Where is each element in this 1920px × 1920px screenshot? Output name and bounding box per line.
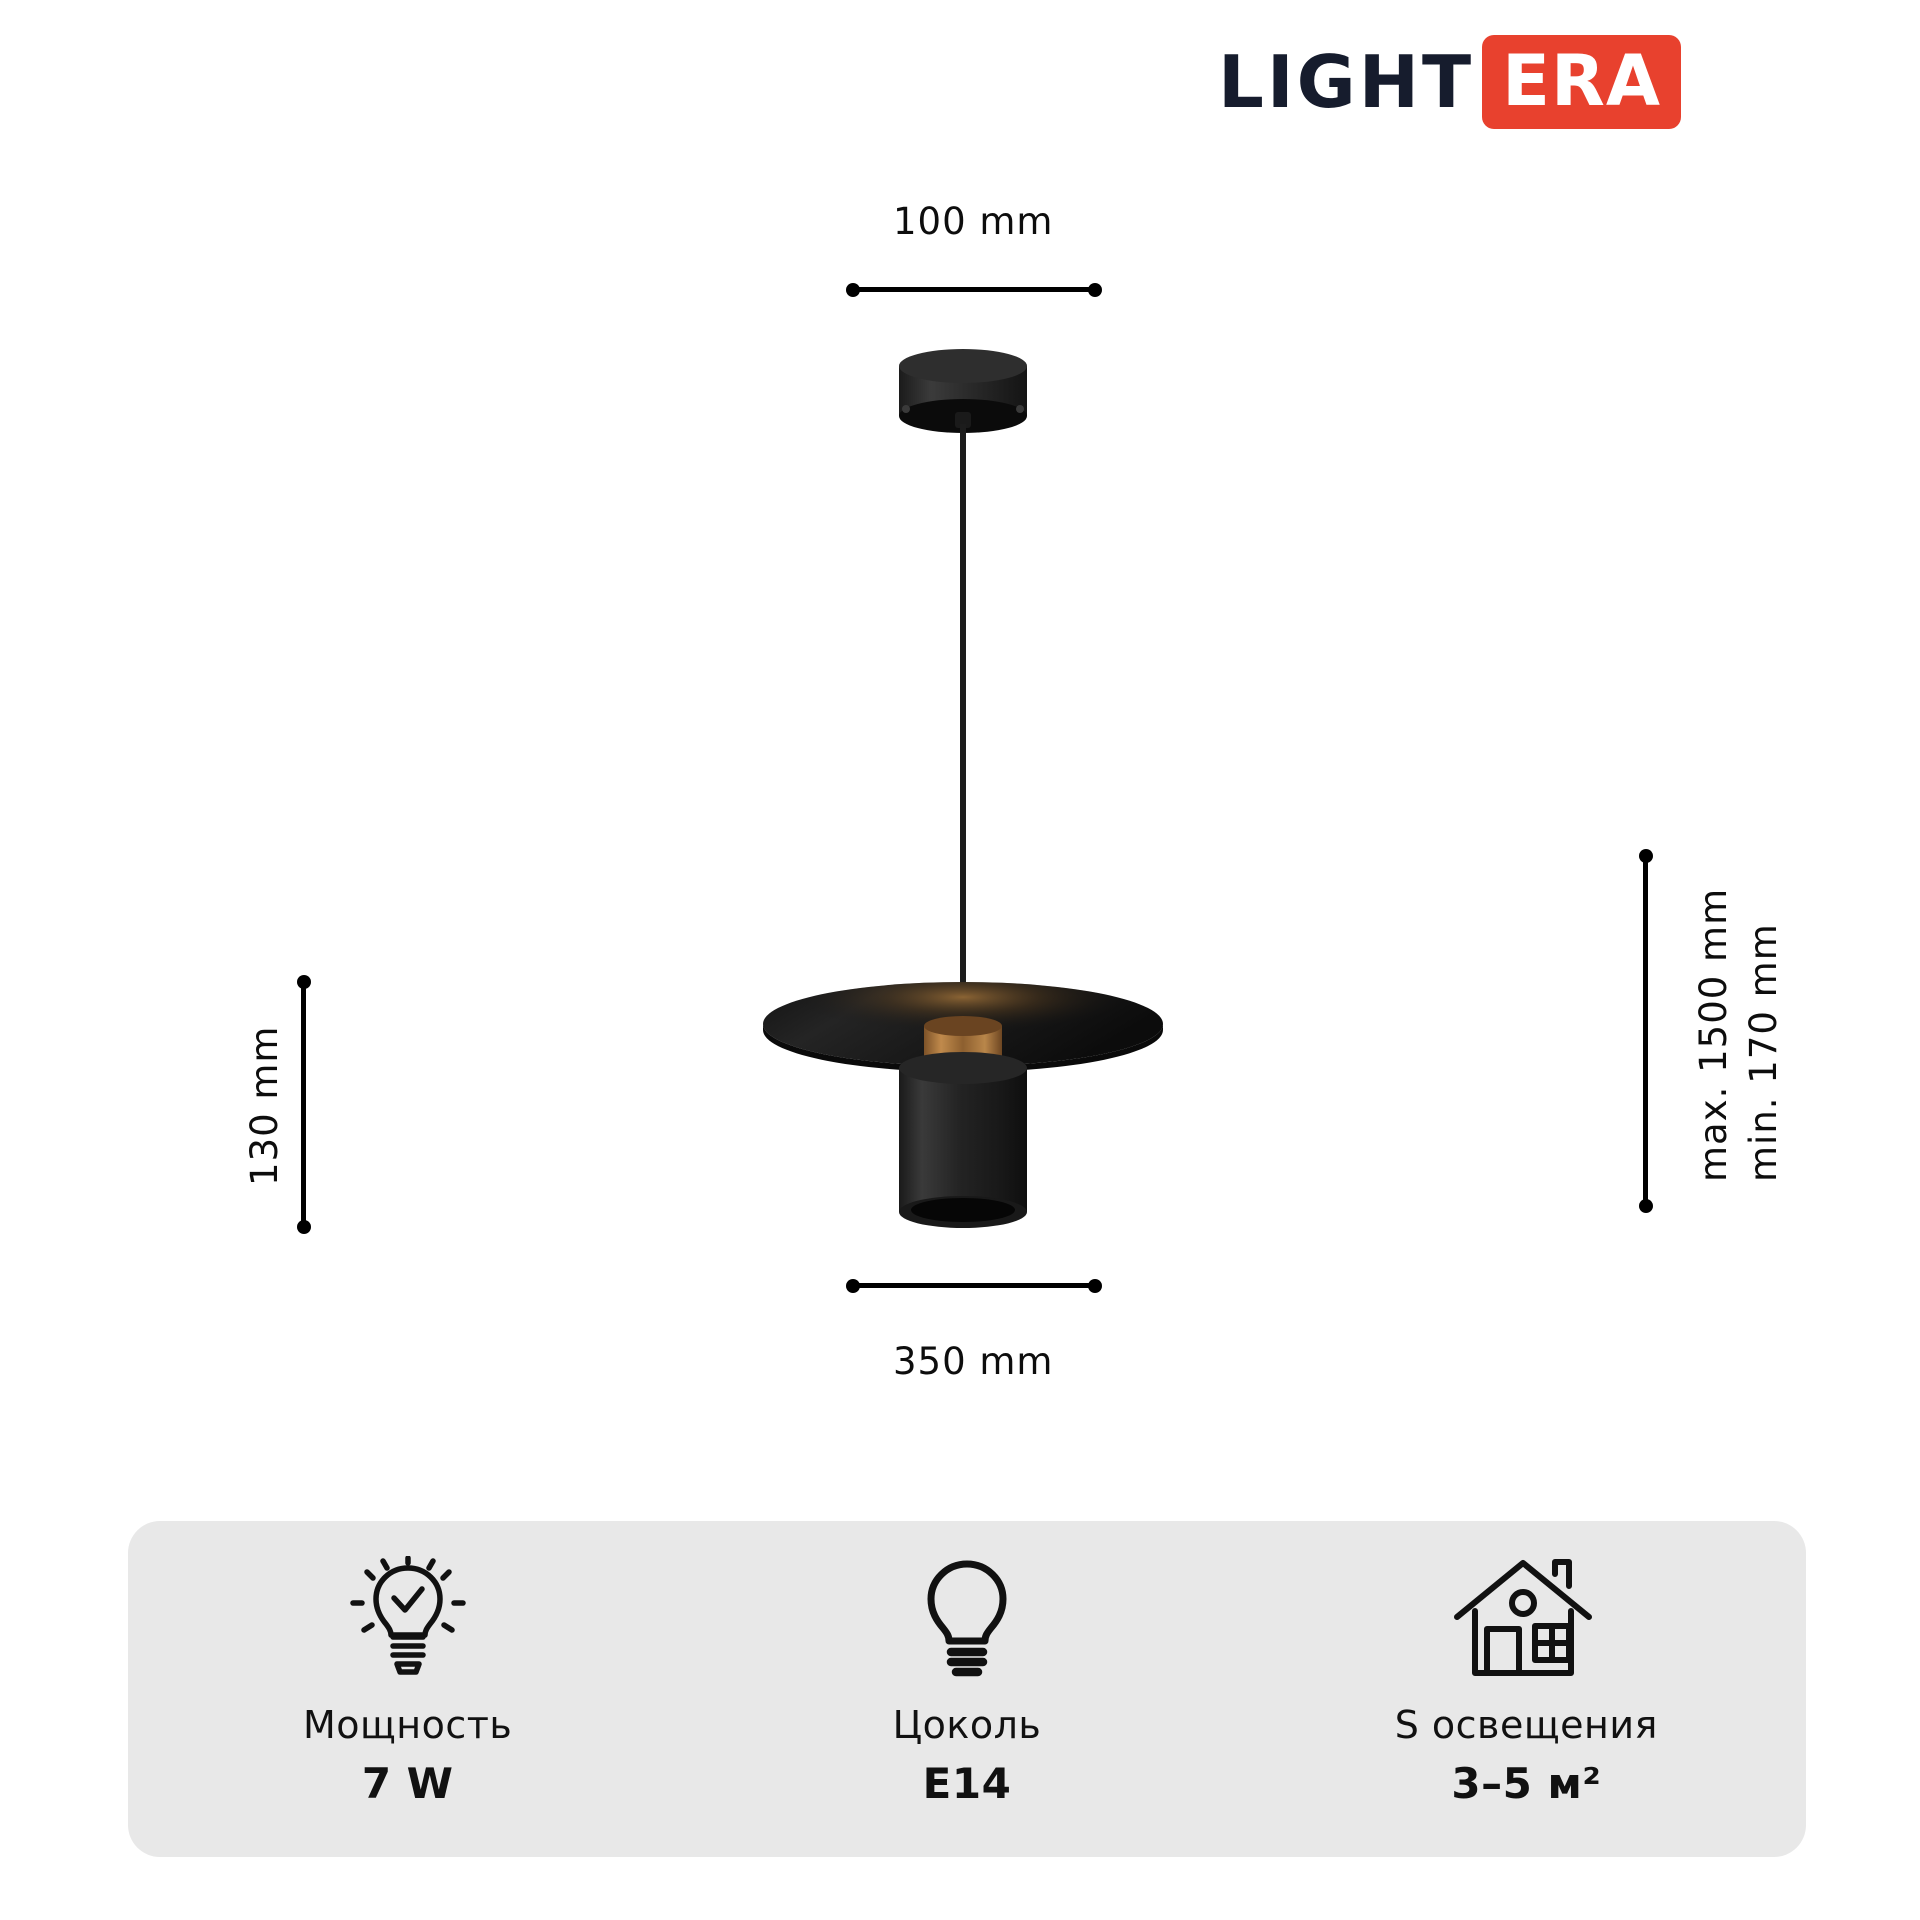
brand-logo: LIGHT ERA	[1218, 36, 1681, 128]
spec-item-socket: Цоколь E14	[687, 1521, 1246, 1857]
spec-value-socket: E14	[923, 1761, 1012, 1807]
house-icon	[1453, 1555, 1599, 1681]
spec-panel: Мощность 7 W Цоколь E14	[128, 1521, 1806, 1857]
dim-line-shade-width	[848, 1283, 1100, 1288]
copper-collar	[924, 1016, 1002, 1080]
brand-logo-era-text: ERA	[1502, 46, 1661, 116]
dim-label-shade-width: 350 mm	[893, 1340, 1053, 1383]
bulb-check-icon	[347, 1555, 469, 1681]
dim-label-suspension-max: max. 1500 mm	[1692, 888, 1735, 1182]
spec-value-lighting-area: 3–5 м²	[1451, 1761, 1601, 1807]
dim-line-shade-height	[301, 977, 306, 1232]
spec-title-power: Мощность	[303, 1705, 512, 1747]
spec-value-power: 7 W	[362, 1761, 454, 1807]
dim-label-canopy-width: 100 mm	[893, 200, 1053, 243]
brand-logo-light-text: LIGHT	[1218, 46, 1482, 118]
ceiling-canopy	[899, 349, 1027, 433]
dim-line-canopy-width	[848, 287, 1100, 292]
brand-logo-era-badge: ERA	[1482, 35, 1681, 129]
spec-item-power: Мощность 7 W	[128, 1521, 687, 1857]
cylinder-shade	[899, 1052, 1027, 1228]
spec-title-lighting-area: S освещения	[1395, 1705, 1658, 1747]
spec-title-socket: Цоколь	[893, 1705, 1042, 1747]
disc-reflector	[763, 982, 1163, 1072]
dim-label-suspension-min: min. 170 mm	[1742, 923, 1785, 1182]
suspension-cord	[960, 424, 966, 984]
dim-label-shade-height: 130 mm	[243, 1026, 286, 1186]
spec-item-lighting-area: S освещения 3–5 м²	[1247, 1521, 1806, 1857]
dim-line-suspension	[1643, 851, 1648, 1211]
bulb-icon	[917, 1555, 1017, 1681]
